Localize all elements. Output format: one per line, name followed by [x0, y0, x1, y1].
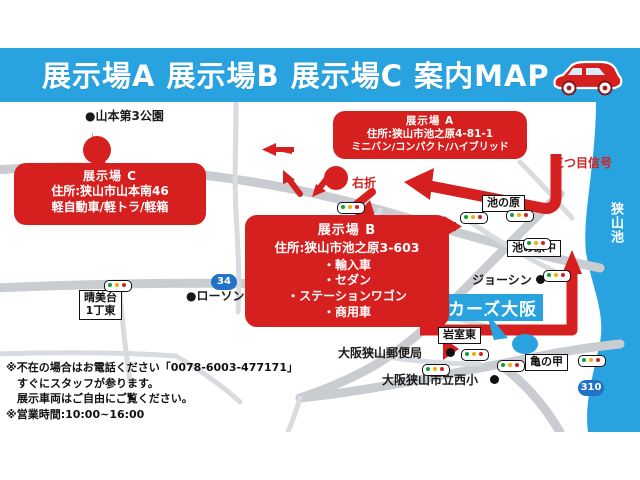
- label-nishi-elementary-dot: [490, 375, 499, 384]
- traffic-signal-iwamuro: [497, 360, 525, 372]
- callout-c-title: 展示場 C: [14, 169, 206, 184]
- note-line-1: ※不在の場合はお電話ください「0078-6003-477171」: [6, 360, 306, 376]
- callout-b-item: ・輸入車: [245, 258, 449, 274]
- marker-a: [324, 166, 348, 190]
- callout-a-address: 住所:狭山市池之原4-81-1: [333, 128, 527, 141]
- traffic-signal-ikenohara-chu: [523, 238, 551, 250]
- traffic-signal-harumidai: [104, 280, 132, 292]
- callout-b-item: ・セダン: [245, 273, 449, 289]
- callout-b-item: ・商用車: [245, 305, 449, 321]
- route-arrow-main: [404, 154, 556, 209]
- label-post-office: 大阪狭山郵便局: [338, 347, 422, 361]
- callout-b-title: 展示場 B: [245, 223, 449, 240]
- callout-c-address: 住所:狭山市山本南46: [14, 184, 206, 199]
- callout-a-title: 展示場 A: [333, 115, 527, 128]
- cars-osaka-marker: [512, 334, 538, 354]
- label-post-office-dot: [446, 348, 455, 357]
- note-line-2: すぐにスタッフが参ります。: [6, 376, 306, 392]
- route-arrow-park: [262, 143, 294, 156]
- label-sayama-pond: 狭山池: [608, 202, 622, 244]
- label-iwamuro-higashi: 岩室東: [438, 327, 481, 344]
- label-harumidai: 晴美台 1丁東: [79, 290, 122, 320]
- callout-showroom-c[interactable]: 展示場 C 住所:狭山市山本南46 軽自動車/軽トラ/軽箱: [14, 163, 206, 225]
- map-flyer: 展示場A 展示場B 展示場C 案内MAP: [0, 0, 640, 480]
- traffic-signal-ikenohara: [506, 210, 534, 222]
- traffic-signal-ikenohara-west: [460, 212, 488, 224]
- label-yamamoto-park: ●山本第3公園: [85, 110, 164, 124]
- route-shield-34: 34: [211, 274, 237, 290]
- label-kamenoko: 亀の甲: [525, 354, 568, 371]
- label-nishi-elementary: 大阪狭山市立西小: [382, 374, 478, 388]
- callout-showroom-a[interactable]: 展示場 A 住所:狭山市池之原4-81-1 ミニバン/コンパクト/ハイブリッド: [333, 111, 527, 159]
- page-title: 展示場A 展示場B 展示場C 案内MAP: [42, 58, 542, 94]
- label-turn-right: 右折: [352, 174, 376, 191]
- note-line-4: ※営業時間:10:00~16:00: [6, 407, 306, 423]
- note-line-3: 展示車両はご自由にご覧ください。: [6, 391, 306, 407]
- callout-b-item: ・ステーションワゴン: [245, 289, 449, 305]
- callout-c-categories: 軽自動車/軽トラ/軽箱: [14, 200, 206, 215]
- callout-showroom-b[interactable]: 展示場 B 住所:狭山市池之原3-603 ・輸入車 ・セダン ・ステーションワゴ…: [245, 215, 449, 327]
- label-harumidai-line2: 1丁東: [84, 305, 117, 318]
- traffic-signal-joshin: [543, 270, 571, 282]
- traffic-signal-post-office: [461, 349, 489, 361]
- traffic-signal-turn-right: [337, 202, 365, 214]
- footer-notes: ※不在の場合はお電話ください「0078-6003-477171」 すぐにスタッフ…: [6, 360, 306, 422]
- label-third-signal: 三つ目信号: [552, 154, 612, 171]
- callout-b-item-list: ・輸入車 ・セダン ・ステーションワゴン ・商用車: [245, 258, 449, 321]
- traffic-signal-west: [422, 364, 450, 376]
- label-lawson: ●ローソン: [186, 290, 244, 304]
- red-car-icon: [549, 55, 623, 97]
- callout-b-address: 住所:狭山市池之原3-603: [245, 240, 449, 256]
- callout-a-categories: ミニバン/コンパクト/ハイブリッド: [333, 142, 527, 155]
- traffic-signal-kamenoko: [578, 355, 606, 367]
- route-shield-310: 310: [578, 380, 604, 396]
- label-joshin: ジョーシン: [472, 274, 532, 288]
